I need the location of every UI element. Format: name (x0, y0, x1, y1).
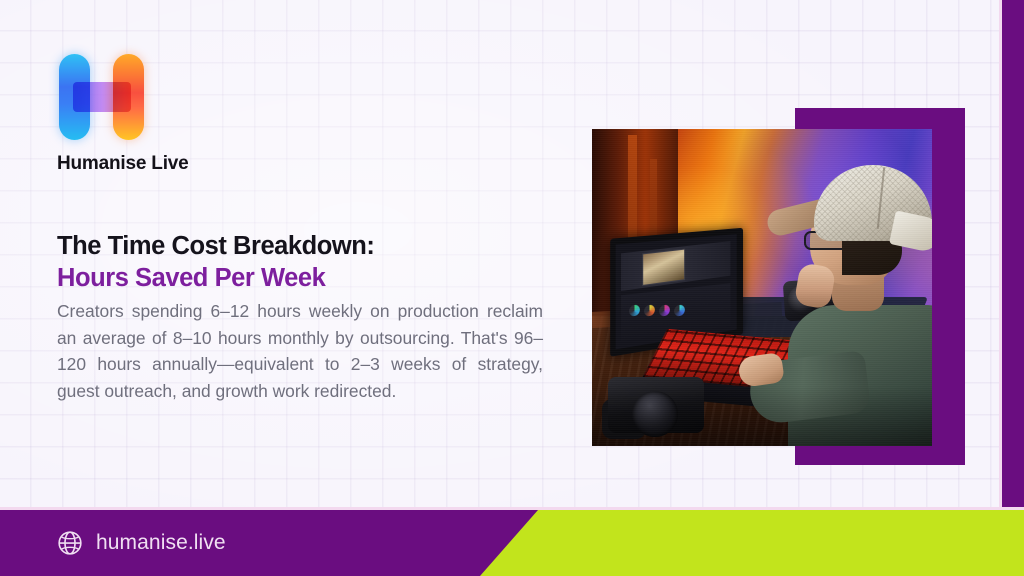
headline-line-2: Hours Saved Per Week (57, 262, 552, 294)
body-paragraph: Creators spending 6–12 hours weekly on p… (57, 298, 543, 404)
footer-bar: humanise.live (0, 510, 1024, 576)
logo-crossbar (73, 82, 131, 112)
globe-icon (57, 530, 83, 556)
footer-url[interactable]: humanise.live (96, 531, 226, 555)
hero-photo (592, 129, 932, 446)
headline-line-1: The Time Cost Breakdown: (57, 232, 374, 260)
brand-name: Humanise Live (57, 153, 317, 175)
humanise-h-logo-icon (57, 50, 149, 144)
footer-content: humanise.live (57, 510, 226, 576)
brand-logo[interactable]: Humanise Live (57, 50, 317, 175)
right-accent-bar (1002, 0, 1024, 512)
photo-grain (592, 129, 932, 446)
body-copy: Creators spending 6–12 hours weekly on p… (57, 298, 543, 404)
page-title: The Time Cost Breakdown: Hours Saved Per… (57, 230, 552, 294)
headline-heading: The Time Cost Breakdown: Hours Saved Per… (57, 230, 552, 294)
slide-canvas: Humanise Live The Time Cost Breakdown: H… (0, 0, 1024, 576)
